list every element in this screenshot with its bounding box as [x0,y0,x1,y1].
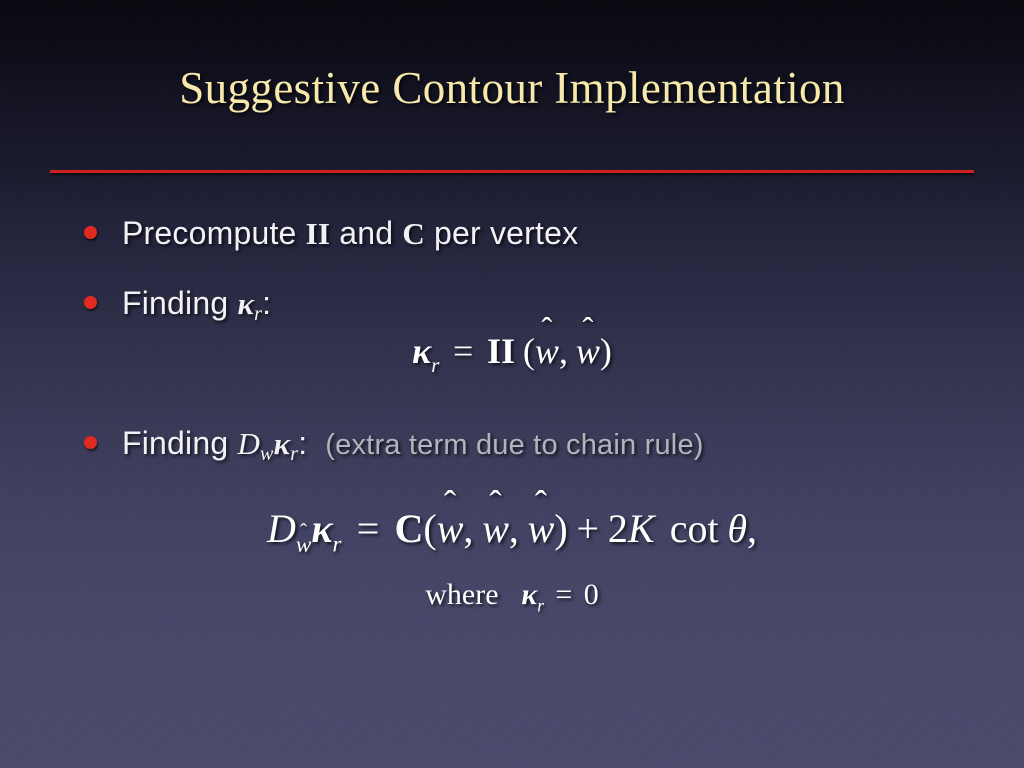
eq2-w-hat-1: ˆw [437,505,464,552]
bullet-item-precompute: Precompute II and C per vertex [84,215,578,252]
bullet-dot-icon [84,226,97,239]
bullet-dot-icon [84,436,97,449]
bullet-3-note: (extra term due to chain rule) [325,429,703,461]
bullet-2-prefix: Finding [122,285,237,321]
kappa-symbol: κ [237,286,254,321]
second-fundamental-form-symbol: II [306,216,331,251]
bullet-1-prefix: Precompute [122,215,306,251]
eq1-open-paren: ( [523,331,535,371]
eq2-gaussian-curvature-symbol: K [628,506,655,551]
eq3-where-label: where [425,578,498,611]
equation-dw-kappa-r-expansion: Dˆwκr=C(ˆw,ˆw,ˆw)+2Kcotθ, [0,505,1024,559]
kappa-symbol: κ [274,426,291,461]
hat-accent-icon: ˆ [528,486,555,523]
slide-title: Suggestive Contour Implementation [0,62,1024,114]
eq3-equals-sign: = [555,578,572,611]
directional-derivative-symbol: D [237,426,260,461]
title-divider-rule [50,170,974,173]
eq2-close-paren: ) [554,506,567,551]
bullet-1-middle: and [330,215,402,251]
eq1-comma: , [559,331,568,371]
bullet-item-label: Finding κr: [122,285,271,326]
eq2-d-glyph: D [267,506,296,551]
eq1-second-fundamental-form-symbol: II [487,331,515,371]
presentation-slide: Suggestive Contour Implementation Precom… [0,0,1024,768]
eq2-open-paren: ( [423,506,436,551]
bullet-item-label: Finding Dwκr:(extra term due to chain ru… [122,425,704,466]
eq2-kappa-symbol: κ [311,506,332,551]
eq1-kappa-subscript: r [431,353,439,377]
eq1-kappa-symbol: κ [412,331,431,371]
eq1-close-paren: ) [600,331,612,371]
eq1-w-hat-1: ˆw [535,330,559,372]
eq2-curvature-derivative-symbol: C [394,506,423,551]
eq2-kappa-subscript: r [333,532,342,558]
curvature-derivative-symbol: C [402,216,425,251]
eq2-w-hat-3: ˆw [528,505,555,552]
eq2-d-symbol-wrapper: D [267,505,296,552]
eq1-w-hat-2: ˆw [576,330,600,372]
equation-kappa-r-definition: κr=II(ˆw,ˆw) [0,330,1024,378]
bullet-dot-icon [84,296,97,309]
eq2-equals-sign: = [357,506,380,551]
eq2-plus-sign: + [576,506,599,551]
eq3-value: 0 [584,578,599,611]
eq2-coefficient: 2 [608,506,628,551]
eq3-kappa-symbol: κ [521,578,537,611]
bullet-1-suffix: per vertex [425,215,578,251]
bullet-2-suffix: : [262,285,271,321]
kappa-subscript-r: r [254,303,262,325]
eq2-comma-2: , [509,506,519,551]
hat-accent-icon: ˆ [576,313,600,346]
bullet-3-suffix: : [298,425,307,461]
eq2-w-hat-2: ˆw [482,505,509,552]
bullet-3-prefix: Finding [122,425,237,461]
bullet-item-label: Precompute II and C per vertex [122,215,578,252]
hat-accent-icon: ˆ [437,486,464,523]
d-subscript-w: w [260,443,274,465]
eq2-comma-1: , [463,506,473,551]
eq2-trailing-comma: , [747,506,757,551]
bullet-item-finding-dw-kappa-r: Finding Dwκr:(extra term due to chain ru… [84,425,704,466]
kappa-subscript-r: r [290,443,298,465]
eq2-cot-operator: cot [670,506,719,551]
equation-kappa-r-zero-condition: whereκr=0 [0,578,1024,616]
hat-accent-icon: ˆ [482,486,509,523]
eq3-kappa-subscript: r [537,595,544,615]
background-texture [0,0,1024,768]
eq2-d-subscript-w-hat: ˆw [296,532,311,559]
hat-accent-icon: ˆ [535,313,559,346]
eq1-equals-sign: = [453,331,473,371]
bullet-item-finding-kappa-r: Finding κr: [84,285,271,326]
eq2-theta-symbol: θ [727,506,747,551]
hat-accent-icon: ˆ [296,521,311,542]
